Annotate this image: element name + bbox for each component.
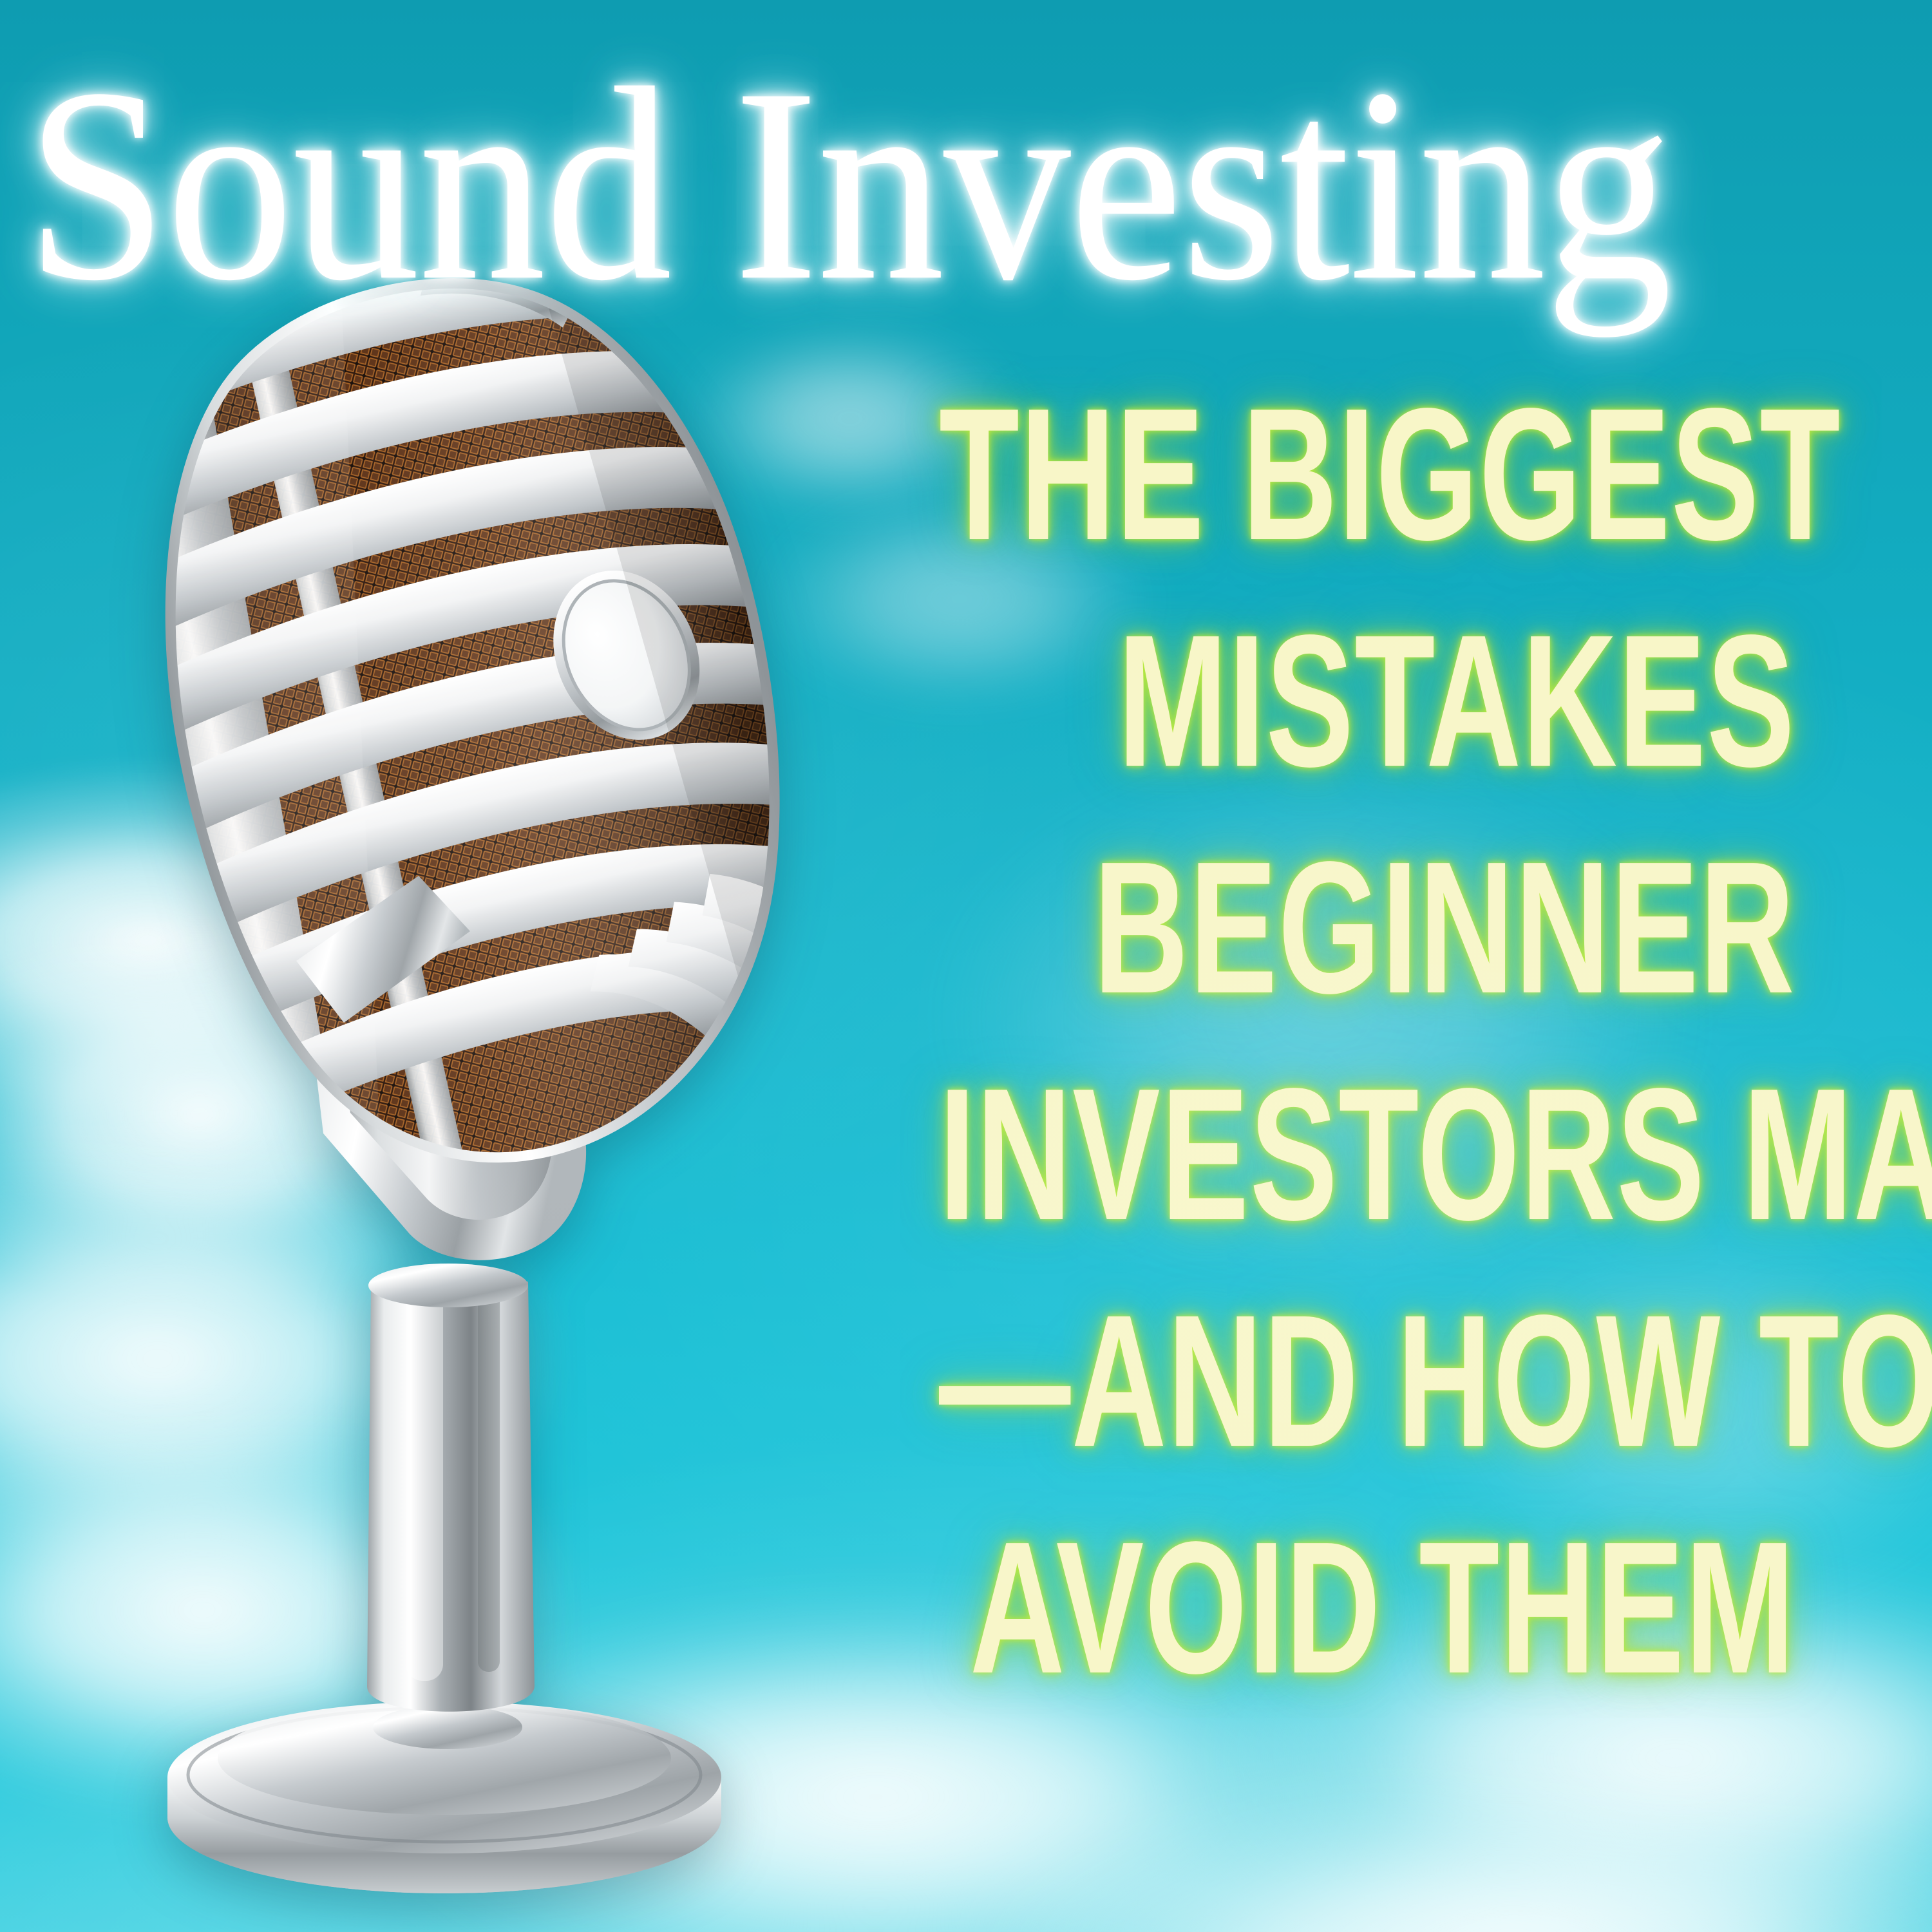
episode-title-line-3: BEGINNER	[939, 814, 1795, 1041]
mic-post	[367, 1264, 535, 1712]
podcast-cover-art: Sound Investing THE BIGGEST MISTAKES BEG…	[0, 0, 1932, 1932]
episode-title-line-5: —AND HOW TO	[939, 1267, 1795, 1494]
podcast-title: Sound Investing	[26, 46, 1762, 323]
mic-base	[167, 1701, 721, 1893]
episode-title-line-4: INVESTORS MAKE	[939, 1041, 1795, 1267]
episode-title: THE BIGGEST MISTAKES BEGINNER INVESTORS …	[572, 361, 1795, 1721]
episode-title-line-6: AVOID THEM	[939, 1494, 1795, 1721]
episode-title-line-2: MISTAKES	[939, 587, 1795, 814]
episode-title-line-1: THE BIGGEST	[939, 361, 1795, 587]
